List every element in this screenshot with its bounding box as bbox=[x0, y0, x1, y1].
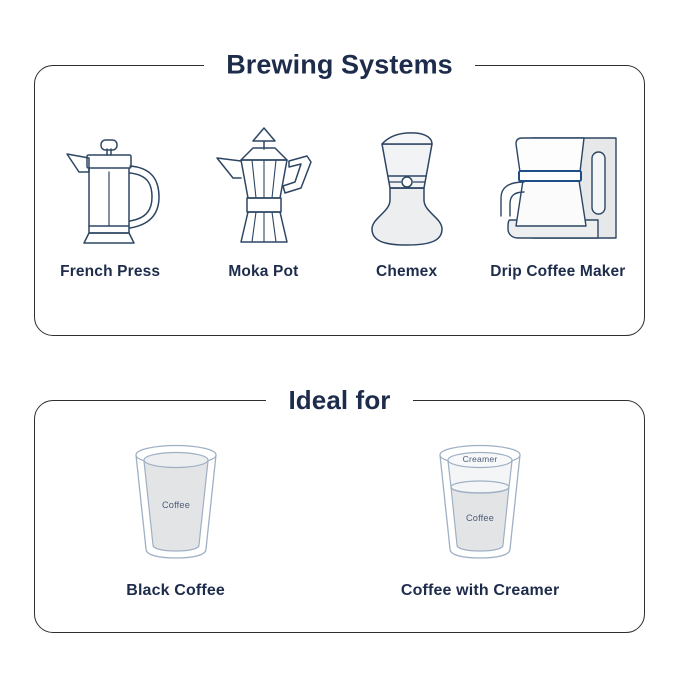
cup-layer-label-creamer: Creamer bbox=[463, 454, 498, 464]
drip-coffee-maker-art bbox=[488, 116, 628, 251]
moka-pot-icon bbox=[201, 116, 325, 251]
moka-pot-art bbox=[201, 116, 325, 251]
black-coffee-art: Coffee bbox=[120, 439, 232, 564]
chemex-icon bbox=[358, 116, 456, 251]
item-label-moka-pot: Moka Pot bbox=[228, 263, 298, 281]
french-press-art bbox=[51, 116, 169, 251]
coffee-with-creamer-art: Creamer Coffee bbox=[424, 439, 536, 564]
item-label-black-coffee: Black Coffee bbox=[126, 582, 225, 600]
section-title-brewing-systems: Brewing Systems bbox=[204, 52, 475, 79]
section-title-container: Brewing Systems bbox=[35, 65, 644, 92]
section-brewing-systems: Brewing Systems bbox=[34, 65, 645, 336]
brewing-systems-item-grid: French Press bbox=[35, 116, 644, 281]
item-moka-pot[interactable]: Moka Pot bbox=[201, 116, 325, 281]
section-title-container: Ideal for bbox=[35, 400, 644, 426]
item-label-chemex: Chemex bbox=[376, 263, 437, 281]
item-label-coffee-with-creamer: Coffee with Creamer bbox=[401, 582, 559, 600]
cup-layer-label-coffee: Coffee bbox=[466, 513, 494, 523]
infographic-root: Brewing Systems bbox=[0, 0, 679, 679]
chemex-art bbox=[358, 116, 456, 251]
item-black-coffee[interactable]: Coffee Black Coffee bbox=[120, 439, 232, 600]
item-label-drip-coffee-maker: Drip Coffee Maker bbox=[490, 263, 625, 281]
coffee-cup-creamer-icon: Creamer Coffee bbox=[424, 439, 536, 564]
item-drip-coffee-maker[interactable]: Drip Coffee Maker bbox=[488, 116, 628, 281]
item-chemex[interactable]: Chemex bbox=[358, 116, 456, 281]
item-coffee-with-creamer[interactable]: Creamer Coffee Coffee with Creamer bbox=[401, 439, 559, 600]
cup-layer-label-coffee: Coffee bbox=[162, 500, 190, 510]
item-french-press[interactable]: French Press bbox=[51, 116, 169, 281]
ideal-for-item-grid: Coffee Black Coffee bbox=[35, 439, 644, 600]
section-ideal-for: Ideal for Coffee bbox=[34, 400, 645, 633]
item-label-french-press: French Press bbox=[60, 263, 160, 281]
drip-coffee-maker-icon bbox=[488, 116, 628, 251]
french-press-icon bbox=[51, 116, 169, 251]
coffee-cup-icon: Coffee bbox=[120, 439, 232, 564]
section-title-ideal-for: Ideal for bbox=[266, 387, 412, 413]
